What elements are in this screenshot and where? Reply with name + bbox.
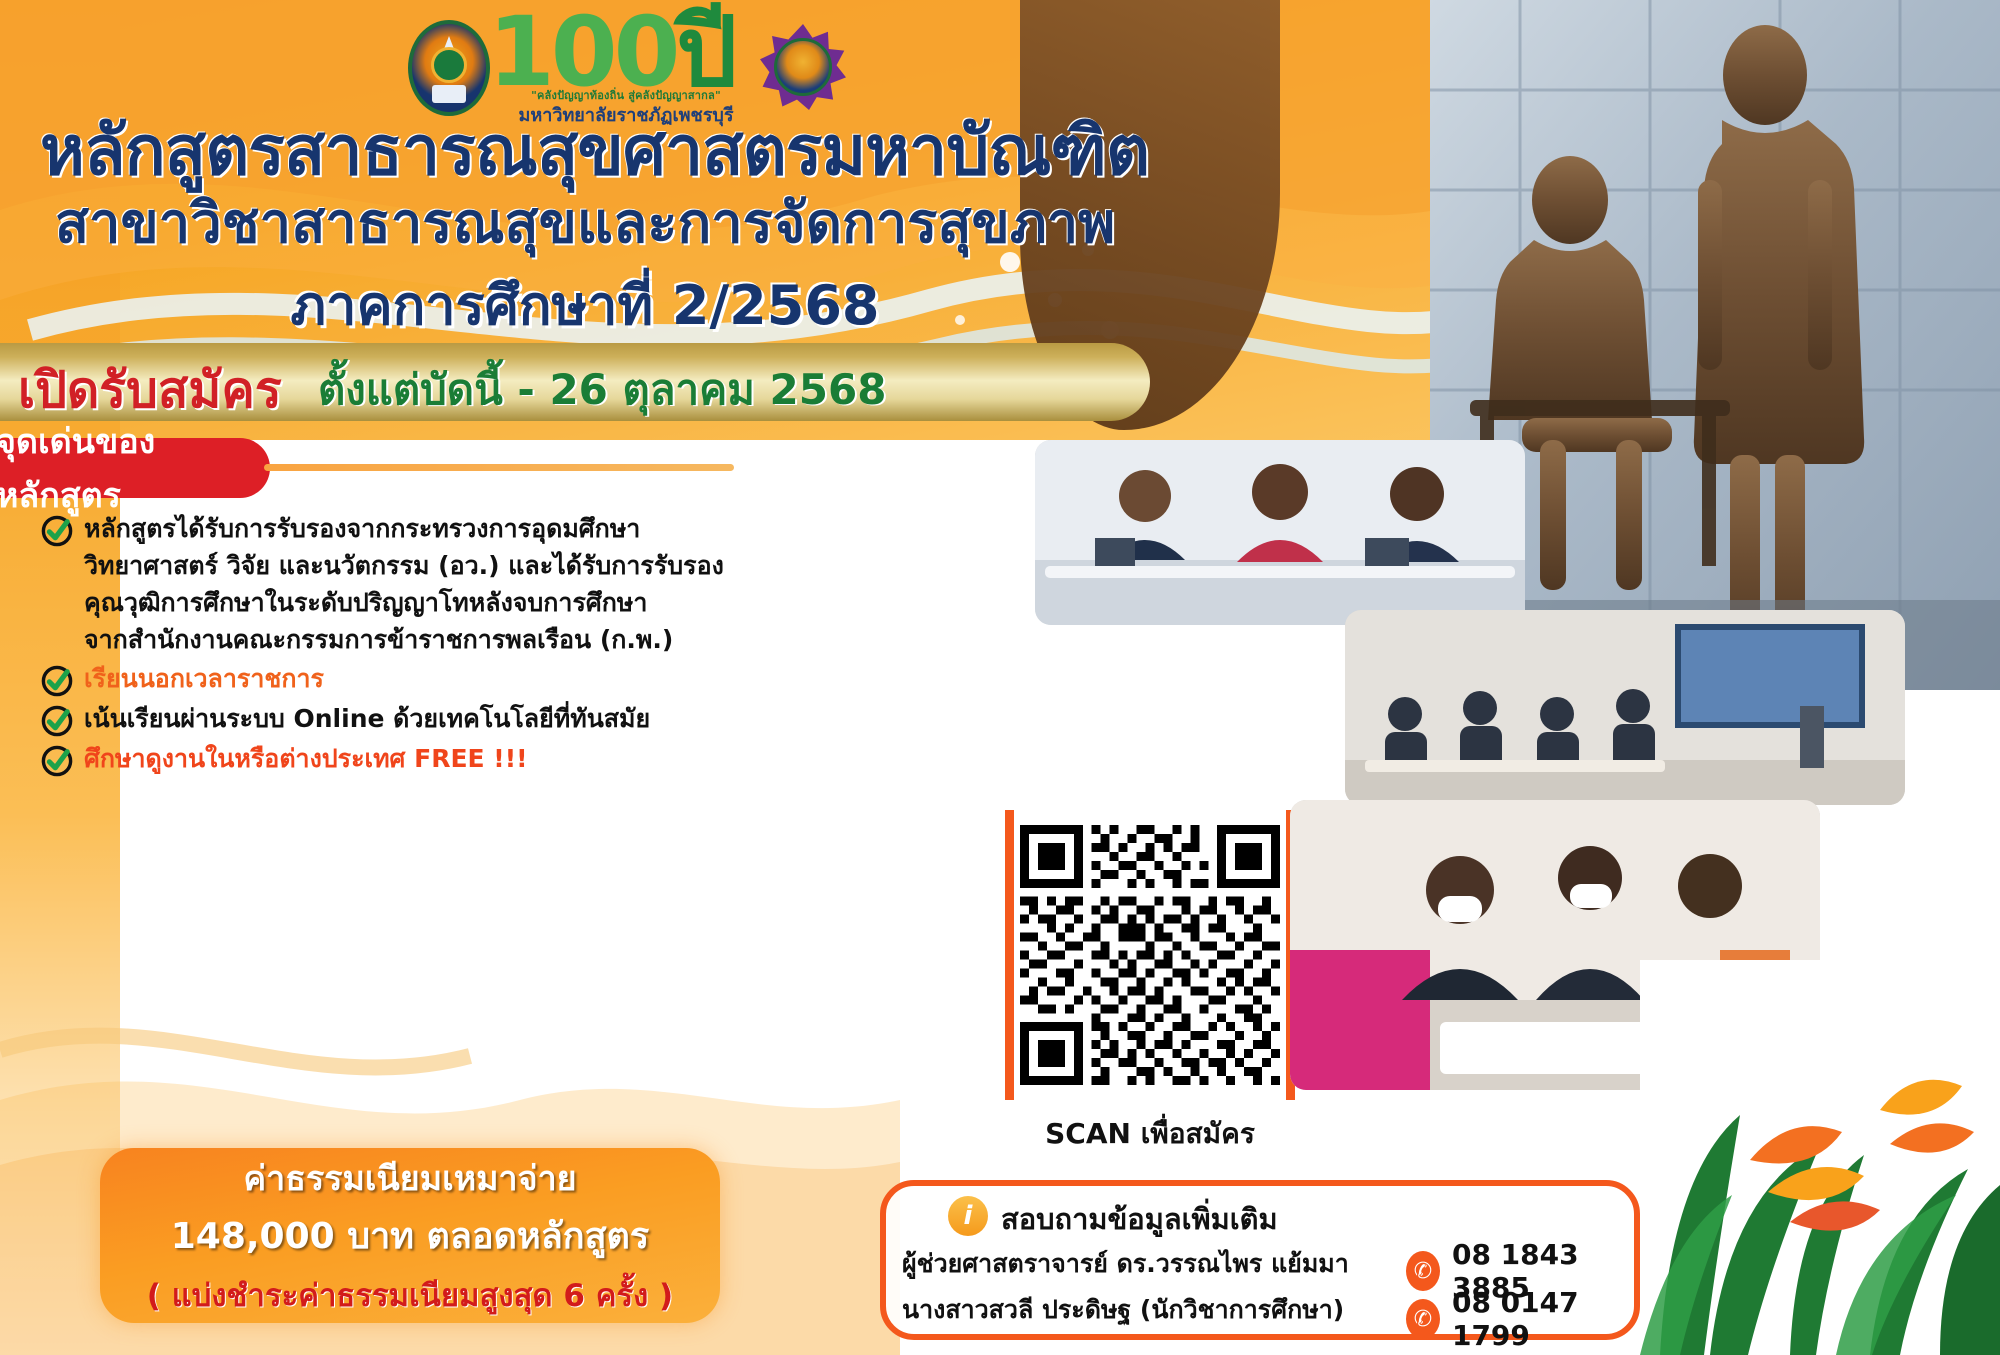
centenary-logo: 100ปี xyxy=(488,8,738,96)
tropical-plants-photo xyxy=(1640,960,2000,1355)
contact-phone-2[interactable]: ✆ 08 0147 1799 xyxy=(1406,1286,1634,1352)
highlights-divider xyxy=(264,464,734,471)
highlights-badge: จุดเด่นของหลักสูตร xyxy=(0,438,270,498)
contact-phone-2-number: 08 0147 1799 xyxy=(1452,1286,1634,1352)
apply-banner: เปิดรับสมัคร ตั้งแต่บัดนี้ - 26 ตุลาคม 2… xyxy=(0,343,1150,421)
fee-installment-note: ( แบ่งชำระค่าธรรมเนียมสูงสุด 6 ครั้ง ) xyxy=(147,1270,673,1320)
list-item-label: เน้นเรียนผ่านระบบ Online ด้วยเทคโนโลยีที… xyxy=(84,700,650,737)
phone-icon: ✆ xyxy=(1406,1251,1440,1291)
list-item: หลักสูตรได้รับการรับรองจากกระทรวงการอุดม… xyxy=(40,510,800,658)
check-circle-icon xyxy=(40,704,74,738)
list-item-label: จากสำนักงานคณะกรรมการข้าราชการพลเรือน (ก… xyxy=(84,621,724,658)
check-circle-icon xyxy=(40,514,74,548)
panel-meeting-photo xyxy=(1035,440,1525,625)
check-circle-icon xyxy=(40,664,74,698)
contact-person-1: ผู้ช่วยศาสตราจารย์ ดร.วรรณไพร แย้มมา xyxy=(902,1244,1349,1284)
list-item: ศึกษาดูงานในหรือต่างประเทศ FREE !!! xyxy=(40,740,800,778)
classroom-seminar-photo xyxy=(1345,610,1905,805)
info-icon: i xyxy=(948,1196,988,1236)
fee-label: ค่าธรรมเนียมเหมาจ่าย xyxy=(243,1151,576,1205)
fee-amount: 148,000 บาท ตลอดหลักสูตร xyxy=(171,1207,650,1264)
qr-code-panel[interactable] xyxy=(1005,810,1295,1100)
program-title-line2: สาขาวิชาสาธารณสุขและการจัดการสุขภาพ xyxy=(40,178,1130,267)
apply-period: ตั้งแต่บัดนี้ - 26 ตุลาคม 2568 xyxy=(318,357,886,423)
list-item: เน้นเรียนผ่านระบบ Online ด้วยเทคโนโลยีที… xyxy=(40,700,800,738)
program-term: ภาคการศึกษาที่ 2/2568 xyxy=(40,262,1130,348)
qr-caption: SCAN เพื่อสมัคร xyxy=(985,1112,1315,1156)
qr-code[interactable] xyxy=(1020,816,1280,1094)
list-item: เรียนนอกเวลาราชการ xyxy=(40,660,800,698)
list-item-label: ศึกษาดูงานในหรือต่างประเทศ FREE !!! xyxy=(84,740,528,777)
phone-icon: ✆ xyxy=(1406,1299,1440,1339)
highlights-list: หลักสูตรได้รับการรับรองจากกระทรวงการอุดม… xyxy=(40,510,800,780)
poster-root: 100ปี "คลังปัญญาท้องถิ่น สู่คลังปัญญาสาก… xyxy=(0,0,2000,1355)
contact-box: i สอบถามข้อมูลเพิ่มเติม ผู้ช่วยศาสตราจาร… xyxy=(880,1180,1640,1340)
check-circle-icon xyxy=(40,744,74,778)
contact-person-2: นางสาวสวลี ประดิษฐ (นักวิชาการศึกษา) xyxy=(902,1290,1344,1330)
list-item-label: เรียนนอกเวลาราชการ xyxy=(84,660,324,697)
contact-heading: สอบถามข้อมูลเพิ่มเติม xyxy=(1001,1196,1278,1242)
list-item-label: วิทยาศาสตร์ วิจัย และนวัตกรรม (อว.) และไ… xyxy=(84,547,724,584)
list-item-label: หลักสูตรได้รับการรับรองจากกระทรวงการอุดม… xyxy=(84,510,724,547)
tuition-fee-box: ค่าธรรมเนียมเหมาจ่าย 148,000 บาท ตลอดหลั… xyxy=(100,1148,720,1323)
list-item-label: คุณวุฒิการศึกษาในระดับปริญญาโทหลังจบการศ… xyxy=(84,584,724,621)
